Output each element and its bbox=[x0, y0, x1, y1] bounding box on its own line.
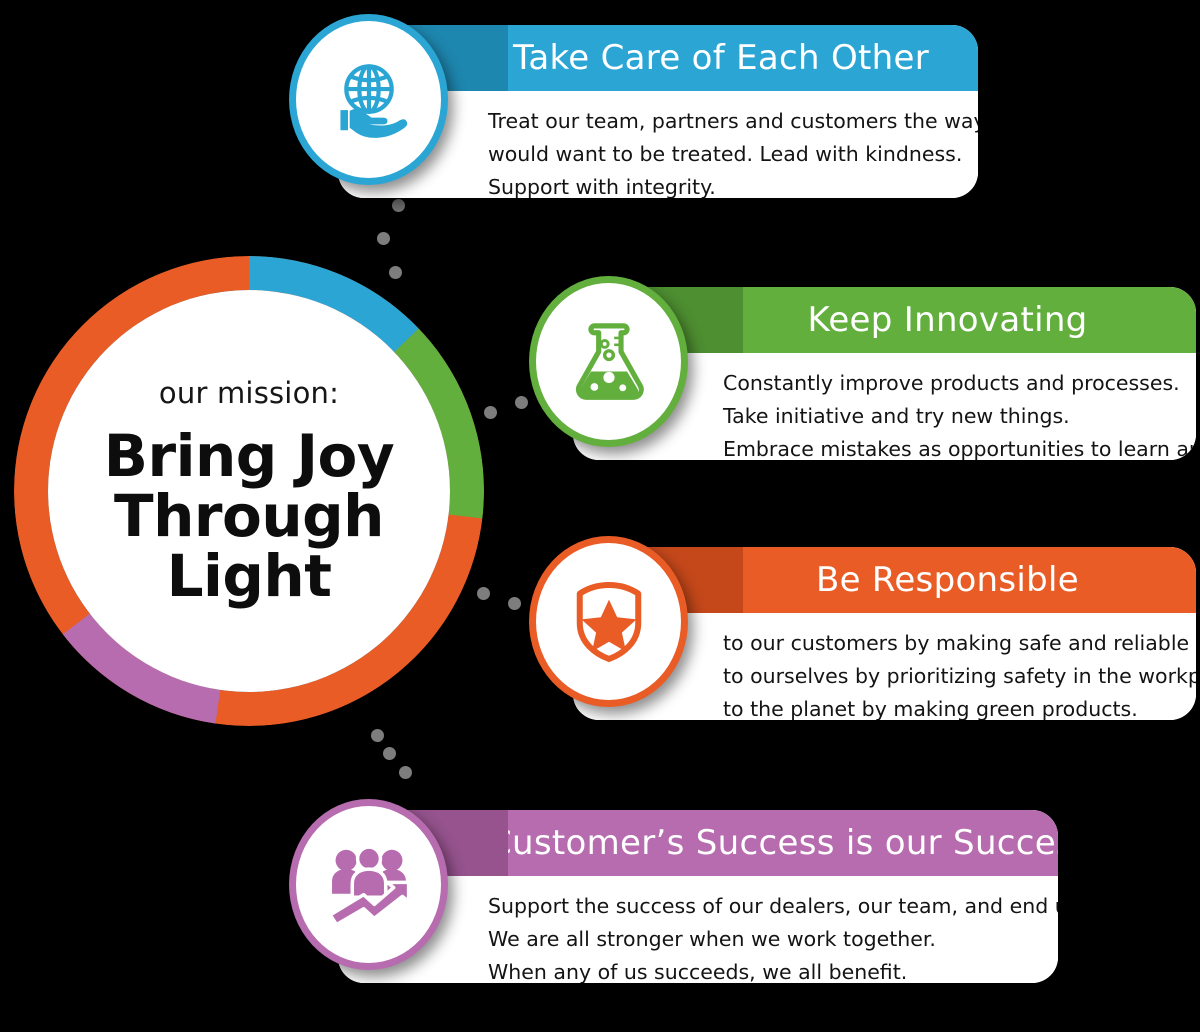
card-body-line: Constantly improve products and processe… bbox=[723, 367, 1174, 400]
card-title: Take Care of Each Other bbox=[488, 38, 954, 78]
people-growth-icon bbox=[325, 841, 413, 929]
mission-circle: our mission: Bring Joy Through Light bbox=[14, 256, 484, 726]
people-growth-icon-badge bbox=[296, 806, 441, 963]
connector-dot bbox=[383, 747, 396, 760]
shield-star-icon bbox=[566, 579, 652, 665]
card-body-line: Support with integrity. bbox=[488, 171, 956, 198]
card-body-line: Support the success of our dealers, our … bbox=[488, 890, 1036, 923]
card-title: Be Responsible bbox=[723, 560, 1172, 600]
flask-icon-badge bbox=[536, 283, 681, 440]
connector-dot bbox=[484, 406, 497, 419]
connector-dot bbox=[508, 597, 521, 610]
card-body-line: to the planet by making green products. bbox=[723, 693, 1174, 720]
mission-text-area: our mission: Bring Joy Through Light bbox=[48, 290, 450, 692]
connector-dot bbox=[371, 729, 384, 742]
mission-headline-line-2: Through bbox=[104, 486, 394, 546]
infographic-canvas: our mission: Bring Joy Through Light Tak… bbox=[0, 0, 1200, 1032]
mission-headline-line-1: Bring Joy bbox=[104, 426, 394, 486]
card-body-line: would want to be treated. Lead with kind… bbox=[488, 138, 956, 171]
connector-dot bbox=[377, 232, 390, 245]
card-body-line: Embrace mistakes as opportunities to lea… bbox=[723, 433, 1174, 460]
mission-headline: Bring Joy Through Light bbox=[104, 426, 394, 607]
connector-dot bbox=[392, 199, 405, 212]
flask-icon bbox=[566, 319, 652, 405]
globe-in-hand-icon bbox=[327, 58, 411, 142]
card-body-line: Take initiative and try new things. bbox=[723, 400, 1174, 433]
shield-star-icon-badge bbox=[536, 543, 681, 700]
connector-dot bbox=[477, 587, 490, 600]
card-title: Customer’s Success is our Success bbox=[488, 823, 1034, 863]
globe-in-hand-icon-badge bbox=[296, 21, 441, 178]
card-body: Support the success of our dealers, our … bbox=[338, 876, 1058, 983]
card-body-line: to ourselves by prioritizing safety in t… bbox=[723, 660, 1174, 693]
card-body-line: We are all stronger when we work togethe… bbox=[488, 923, 1036, 956]
connector-dot bbox=[399, 766, 412, 779]
mission-eyebrow: our mission: bbox=[159, 376, 339, 410]
value-card-customers-success-is-our-success[interactable]: Customer’s Success is our Success Suppor… bbox=[338, 810, 1058, 983]
connector-dot bbox=[389, 266, 402, 279]
card-body-line: When any of us succeeds, we all benefit. bbox=[488, 956, 1036, 983]
mission-headline-line-3: Light bbox=[104, 546, 394, 606]
card-title: Keep Innovating bbox=[723, 300, 1172, 340]
card-body-line: to our customers by making safe and reli… bbox=[723, 627, 1174, 660]
card-body-line: Treat our team, partners and customers t… bbox=[488, 105, 956, 138]
connector-dot bbox=[515, 396, 528, 409]
card-header: Customer’s Success is our Success bbox=[338, 810, 1058, 876]
